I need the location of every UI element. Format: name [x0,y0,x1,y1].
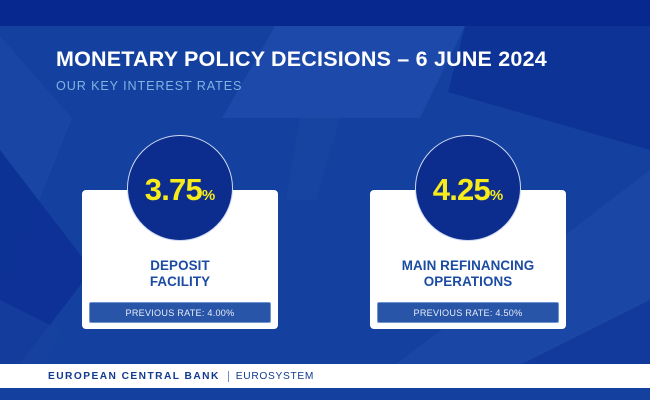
rate-value: 4.25% [433,174,503,205]
footer-band: EUROPEAN CENTRAL BANK EUROSYSTEM [0,364,650,388]
rate-card-label-line2: OPERATIONS [371,274,565,290]
header: MONETARY POLICY DECISIONS – 6 JUNE 2024 … [56,48,547,93]
percent-sign: % [202,187,215,204]
rate-card-label-line1: MAIN REFINANCING [371,258,565,274]
logo-secondary-text: EUROSYSTEM [236,371,314,382]
rate-bubble-deposit-facility: 3.75% [127,135,233,241]
percent-sign: % [490,187,503,204]
previous-rate-badge: PREVIOUS RATE: 4.50% [377,302,559,323]
rate-number: 4.25 [433,172,490,207]
logo-divider [228,371,229,382]
rate-bubble-main-refinancing-operations: 4.25% [415,135,521,241]
ecb-logo: EUROPEAN CENTRAL BANK EUROSYSTEM [48,371,314,382]
page-subtitle: OUR KEY INTEREST RATES [56,79,547,93]
rate-card-label-line1: DEPOSIT [83,258,277,274]
logo-primary-text: EUROPEAN CENTRAL BANK [48,371,220,382]
rate-card-label-line2: FACILITY [83,274,277,290]
page-title: MONETARY POLICY DECISIONS – 6 JUNE 2024 [56,48,547,72]
previous-rate-badge: PREVIOUS RATE: 4.00% [89,302,271,323]
rate-number: 3.75 [145,172,202,207]
rate-value: 3.75% [145,174,215,205]
